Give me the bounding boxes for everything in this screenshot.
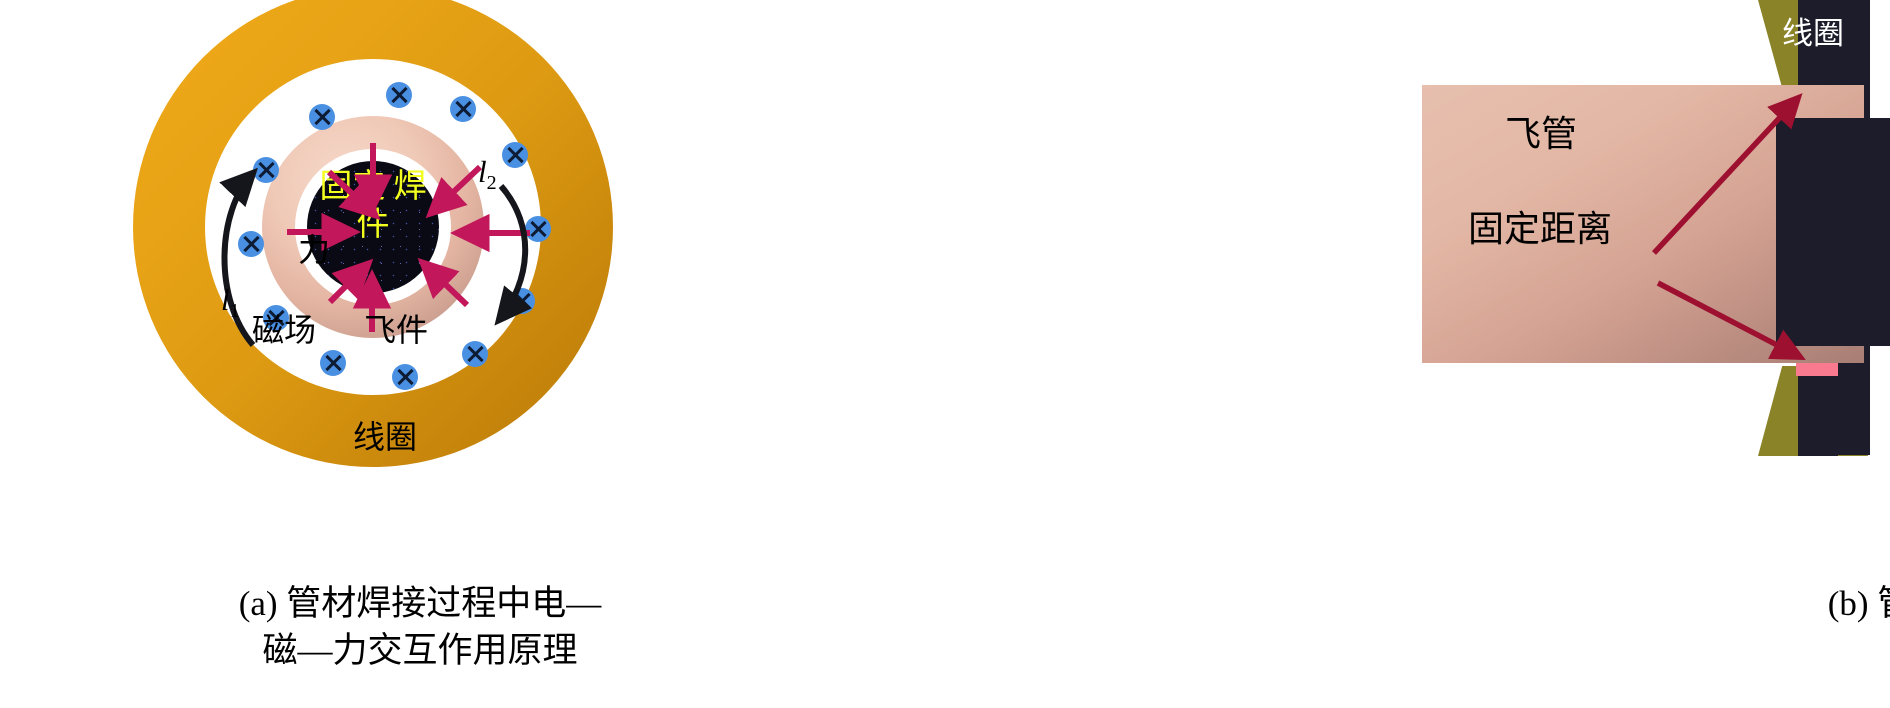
caption-b: (b) 管材磁脉冲焊接结构 xyxy=(1740,580,1890,627)
force-arrow-upper-right xyxy=(430,167,480,214)
coil-label-a: 线圈 xyxy=(353,412,417,458)
caption-a: (a) 管材焊接过程中电— 磁—力交互作用原理 xyxy=(140,580,700,674)
magnetic-field-label: 磁场 xyxy=(252,305,316,351)
l1-label: l1 xyxy=(221,282,240,323)
force-arrow-upper-left xyxy=(329,172,376,216)
distance-arrow-upper xyxy=(1654,98,1798,253)
flyer-part-label: 飞件 xyxy=(364,305,428,351)
panel-b: 线圈 固定件 飞管 固定距离 (b) 管材磁脉冲焊接结构 xyxy=(700,0,1890,708)
l2-label: l2 xyxy=(478,154,497,195)
distance-arrow-lower xyxy=(1658,283,1800,357)
force-arrow-lower-right xyxy=(422,262,467,305)
l2-circulation-arc xyxy=(499,186,525,320)
force-arrow-lower-left xyxy=(330,263,369,302)
force-label: 力 xyxy=(298,225,330,271)
panel-b-dimension-arrows xyxy=(700,0,1890,560)
figure-root: 固定 焊件 xyxy=(0,0,1890,708)
